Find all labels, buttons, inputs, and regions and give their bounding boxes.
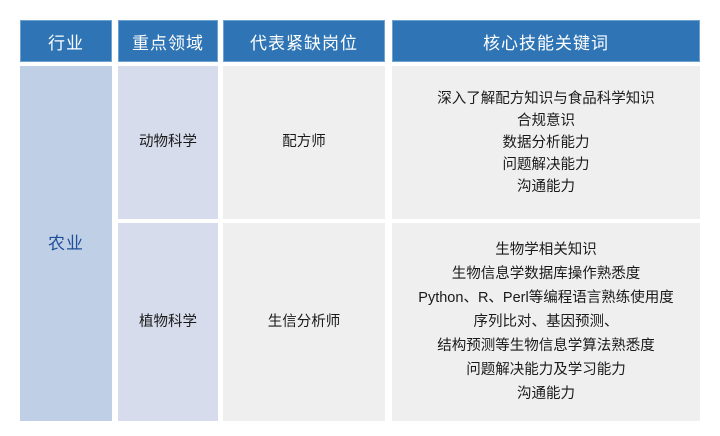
- cell-focus-area-label: 动物科学: [139, 135, 197, 150]
- table-row-2-shortage-role: 生信分析师: [223, 223, 385, 421]
- core-skill-line: 序列比对、基因预测、: [474, 310, 619, 334]
- core-skills-list: 生物学相关知识生物信息学数据库操作熟悉度Python、R、Perl等编程语言熟练…: [392, 238, 700, 406]
- cell-shortage-role-label: 配方师: [282, 135, 326, 150]
- table-row-2-focus-area: 植物科学: [118, 223, 218, 421]
- core-skill-line: 问题解决能力及学习能力: [466, 358, 626, 382]
- cell-focus-area-label: 植物科学: [139, 315, 197, 330]
- table-row-1-shortage-role: 配方师: [223, 66, 385, 219]
- cell-industry-agriculture: 农业: [20, 66, 112, 421]
- column-header-industry-label: 行业: [48, 29, 84, 54]
- core-skill-line: 深入了解配方知识与食品科学知识: [437, 88, 655, 110]
- table-row-1-focus-area: 动物科学: [118, 66, 218, 219]
- core-skill-line: 生物信息学数据库操作熟悉度: [452, 262, 641, 286]
- table-header-row: 行业 重点领域 代表紧缺岗位 核心技能关键词: [20, 20, 700, 62]
- core-skill-line: 问题解决能力: [503, 154, 590, 176]
- column-header-industry: 行业: [20, 20, 112, 62]
- cell-industry-agriculture-label: 农业: [48, 235, 84, 252]
- core-skill-line: 结构预测等生物信息学算法熟悉度: [437, 334, 655, 358]
- core-skill-line: 沟通能力: [517, 382, 575, 406]
- column-header-core-skills-label: 核心技能关键词: [483, 29, 609, 54]
- core-skill-line: 数据分析能力: [503, 132, 590, 154]
- core-skill-line: Python、R、Perl等编程语言熟练使用度: [418, 286, 673, 310]
- column-header-focus-area-label: 重点领域: [132, 29, 204, 54]
- column-header-shortage-role-label: 代表紧缺岗位: [250, 29, 358, 54]
- column-header-shortage-role: 代表紧缺岗位: [223, 20, 385, 62]
- core-skill-line: 沟通能力: [517, 176, 575, 198]
- column-header-focus-area: 重点领域: [118, 20, 218, 62]
- table-row-2-core-skills: 生物学相关知识生物信息学数据库操作熟悉度Python、R、Perl等编程语言熟练…: [392, 223, 700, 421]
- core-skill-line: 合规意识: [517, 110, 575, 132]
- cell-shortage-role-label: 生信分析师: [268, 315, 341, 330]
- skills-table: 行业 重点领域 代表紧缺岗位 核心技能关键词 农业 动物科学 配方师 深入了解配…: [20, 20, 700, 421]
- column-header-core-skills: 核心技能关键词: [392, 20, 700, 62]
- core-skills-list: 深入了解配方知识与食品科学知识合规意识数据分析能力问题解决能力沟通能力: [392, 88, 700, 198]
- core-skill-line: 生物学相关知识: [495, 238, 597, 262]
- table-row-1-core-skills: 深入了解配方知识与食品科学知识合规意识数据分析能力问题解决能力沟通能力: [392, 66, 700, 219]
